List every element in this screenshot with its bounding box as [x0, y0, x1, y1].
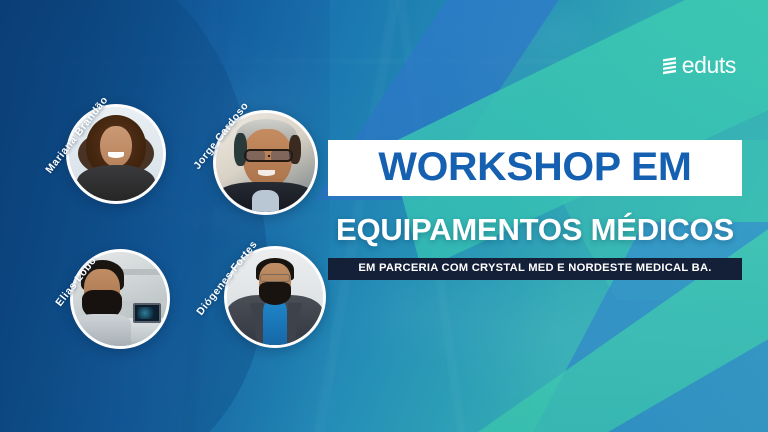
workshop-promo-banner: Mariana Brandão Jorge Car [0, 0, 768, 432]
stacked-layers-icon [661, 56, 678, 76]
speaker-card-jorge-cardoso[interactable]: Jorge Cardoso [213, 110, 318, 215]
speaker-card-diogenes-fortes[interactable]: Diógenes Fortes [224, 246, 326, 348]
headline-line-1: WORKSHOP EM [338, 147, 732, 187]
headline-primary-box: WORKSHOP EM [328, 140, 742, 196]
headline-line-2: EQUIPAMENTOS MÉDICOS [328, 214, 742, 245]
headline-block: WORKSHOP EM EQUIPAMENTOS MÉDICOS EM PARC… [328, 140, 742, 280]
speaker-card-elias-lobo[interactable]: Elias Lobo [70, 249, 170, 349]
partner-credit-bar: EM PARCERIA COM CRYSTAL MED E NORDESTE M… [328, 258, 742, 280]
brand-logo[interactable]: eduts [661, 54, 736, 77]
brand-logo-text: eduts [682, 54, 736, 77]
speaker-card-mariana-brandao[interactable]: Mariana Brandão [66, 104, 166, 204]
speakers-group: Mariana Brandão Jorge Car [0, 0, 350, 432]
